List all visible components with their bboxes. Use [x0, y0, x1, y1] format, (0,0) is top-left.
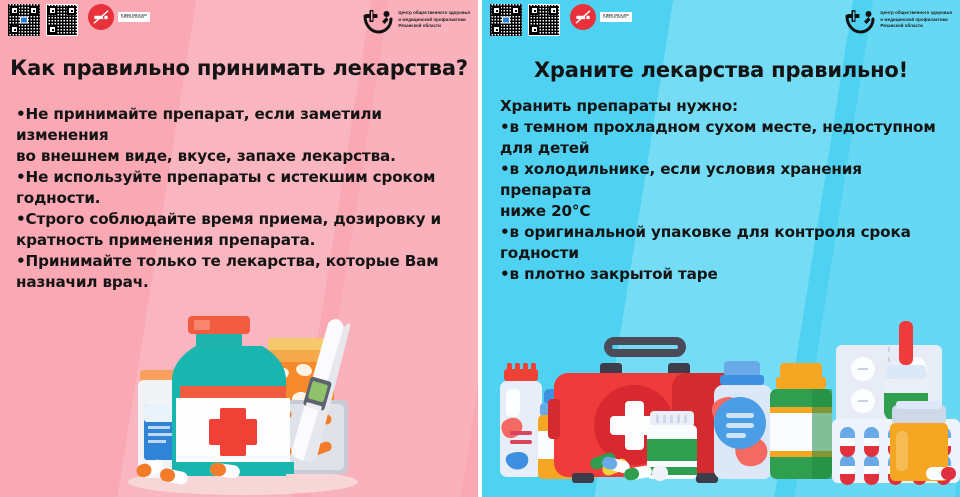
hotline-text: 8 (800) 200-0-200 ГОРЯЧАЯ ЛИНИЯ: [118, 12, 150, 22]
qr-code-vk[interactable]: [490, 4, 522, 36]
qr-finder-icon: [29, 6, 38, 15]
hotline-label: ГОРЯЧАЯ ЛИНИЯ: [603, 16, 626, 19]
logo-line-1: Центр общественного здоровья: [880, 10, 952, 17]
logo-line-1: Центр общественного здоровья: [398, 10, 470, 17]
logo-line-3: Рязанской области: [398, 23, 470, 30]
health-center-logo-icon: [845, 6, 875, 34]
organization-name: Центр общественного здоровья и медицинск…: [880, 10, 952, 30]
poster-panel-right: 8 (800) 200-0-200 ГОРЯЧАЯ ЛИНИЯ: [482, 0, 960, 497]
qr-code-site[interactable]: [46, 4, 78, 36]
poster-panel-left: 8 (800) 200-0-200 ГОРЯЧАЯ ЛИНИЯ: [0, 0, 478, 497]
organization-logo: Центр общественного здоровья и медицинск…: [363, 4, 470, 34]
qr-finder-icon: [530, 25, 539, 34]
panel-header-right: 8 (800) 200-0-200 ГОРЯЧАЯ ЛИНИЯ: [482, 0, 960, 42]
first-aid-kit-bottles-blisters-pills-illustration: [482, 307, 960, 497]
qr-code-vk[interactable]: [8, 4, 40, 36]
qr-finder-icon: [67, 6, 76, 15]
qr-finder-icon: [48, 25, 57, 34]
panel-header-left: 8 (800) 200-0-200 ГОРЯЧАЯ ЛИНИЯ: [0, 0, 478, 42]
no-smoking-icon: [88, 4, 114, 30]
advice-list-right: Хранить препараты нужно: •в темном прохл…: [500, 96, 946, 285]
qr-code-site[interactable]: [528, 4, 560, 36]
qr-finder-icon: [530, 6, 539, 15]
qr-finder-icon: [48, 6, 57, 15]
qr-finder-icon: [10, 25, 19, 34]
advice-text-left: •Не принимайте препарат, если заметили и…: [16, 104, 464, 293]
advice-list-left: •Не принимайте препарат, если заметили и…: [16, 104, 464, 293]
logo-line-2: и медицинской профилактики: [398, 17, 470, 24]
hotline-badge: 8 (800) 200-0-200 ГОРЯЧАЯ ЛИНИЯ: [88, 4, 150, 30]
logo-line-3: Рязанской области: [880, 23, 952, 30]
qr-finder-icon: [549, 6, 558, 15]
qr-finder-icon: [492, 6, 501, 15]
poster-board: 8 (800) 200-0-200 ГОРЯЧАЯ ЛИНИЯ: [0, 0, 960, 497]
hotline-badge: 8 (800) 200-0-200 ГОРЯЧАЯ ЛИНИЯ: [570, 4, 632, 30]
organization-logo: Центр общественного здоровья и медицинск…: [845, 4, 952, 34]
qr-finder-icon: [10, 6, 19, 15]
logo-line-2: и медицинской профилактики: [880, 17, 952, 24]
qr-center-logo-icon: [502, 17, 510, 24]
hotline-text: 8 (800) 200-0-200 ГОРЯЧАЯ ЛИНИЯ: [600, 12, 632, 22]
organization-name: Центр общественного здоровья и медицинск…: [398, 10, 470, 30]
no-smoking-icon: [570, 4, 596, 30]
page-title-right: Храните лекарства правильно!: [482, 58, 960, 82]
hotline-label: ГОРЯЧАЯ ЛИНИЯ: [121, 16, 144, 19]
page-title-left: Как правильно принимать лекарства?: [0, 56, 478, 80]
health-center-logo-icon: [363, 6, 393, 34]
qr-finder-icon: [511, 6, 520, 15]
qr-center-logo-icon: [20, 17, 28, 24]
medicine-bottles-thermometer-blister-pills-illustration: [118, 312, 368, 497]
qr-finder-icon: [492, 25, 501, 34]
advice-text-right: Хранить препараты нужно: •в темном прохл…: [500, 96, 946, 285]
